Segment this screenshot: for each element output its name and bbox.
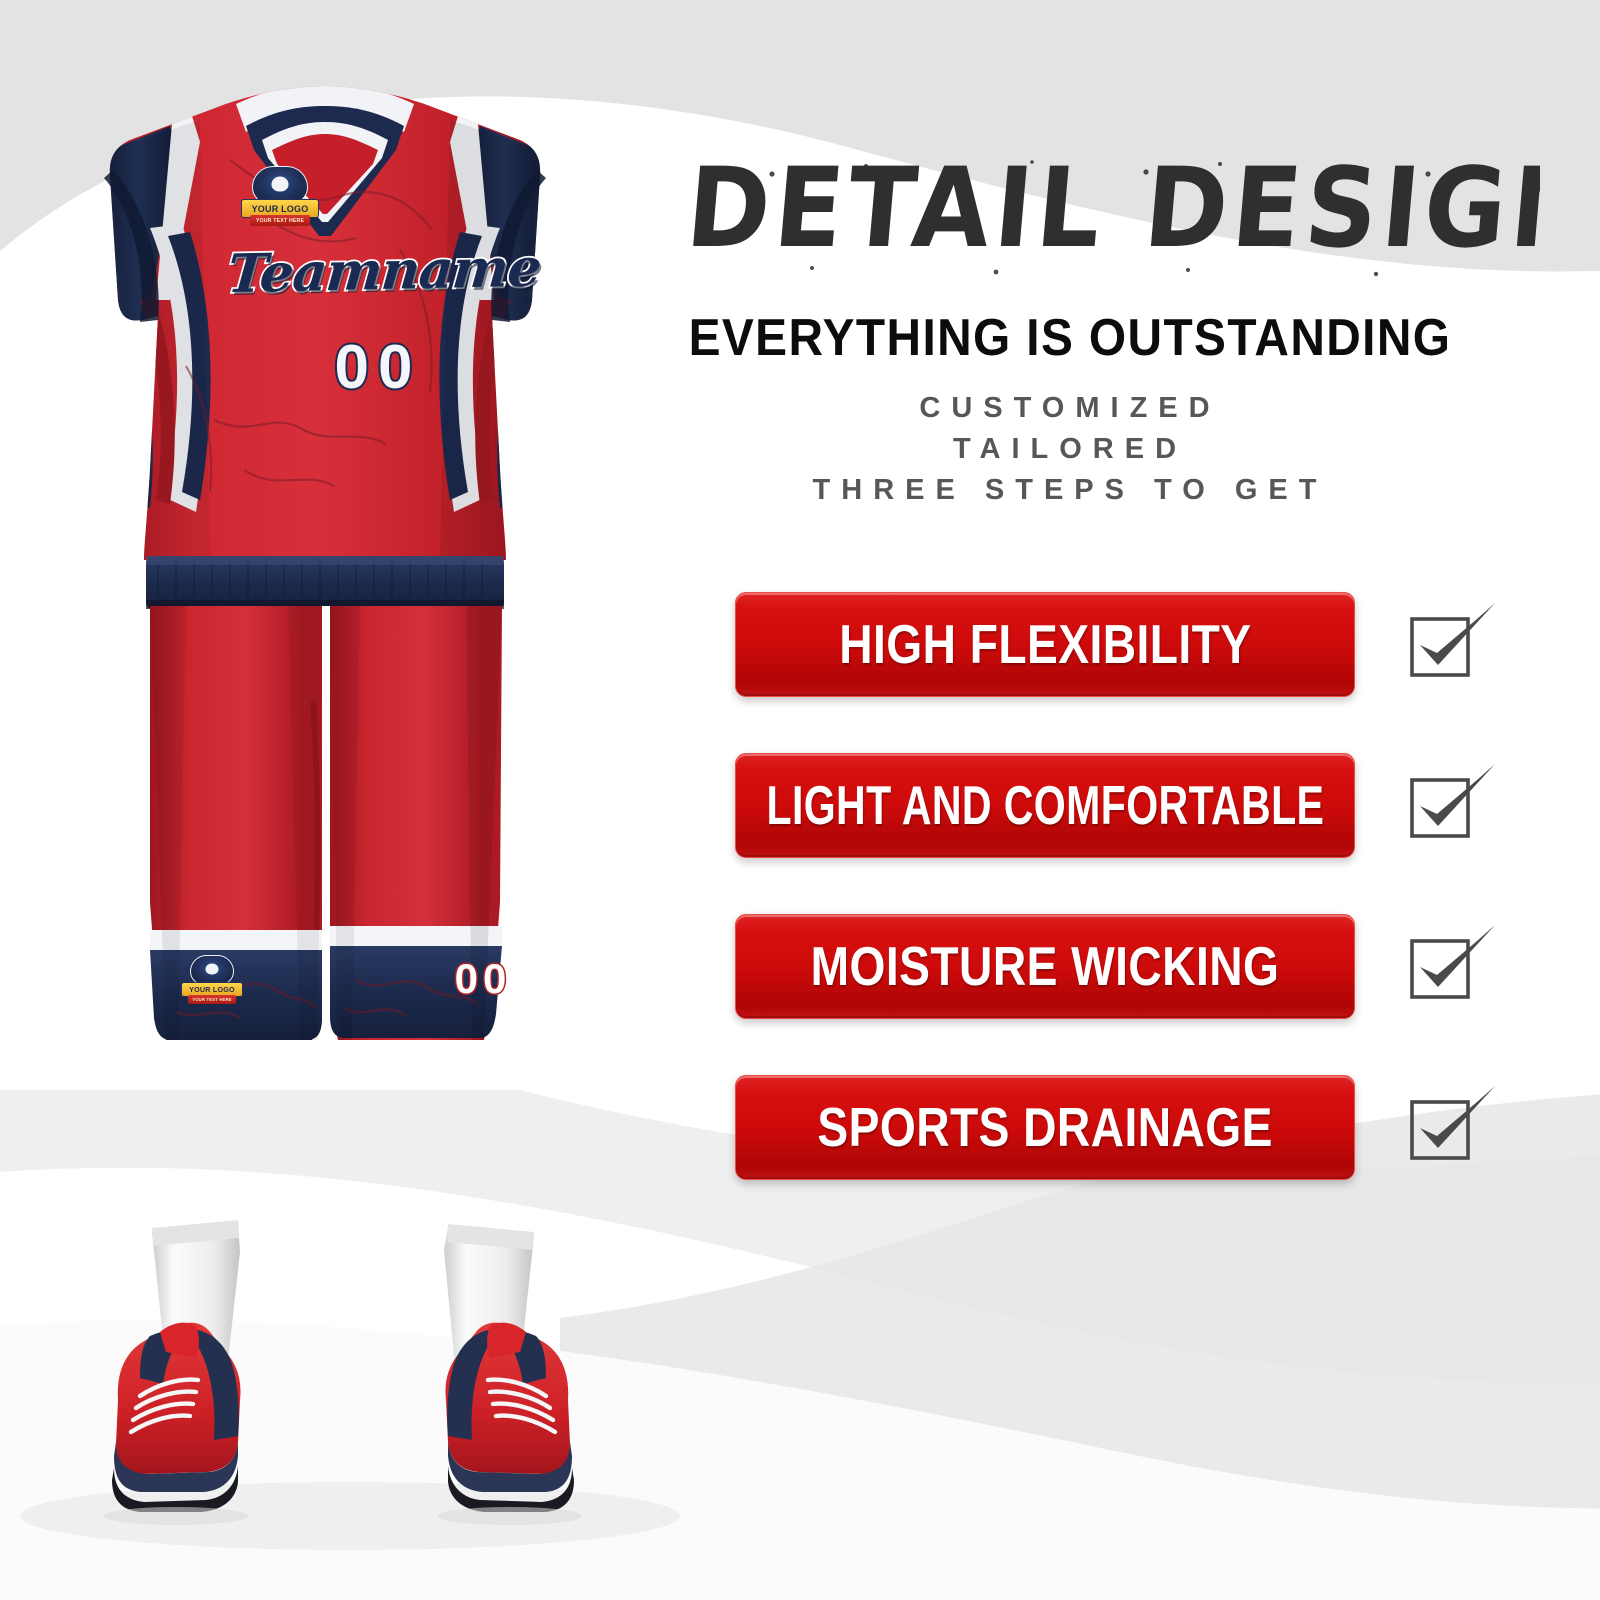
jersey-logo-badge: YOUR LOGO YOUR TEXT HERE — [241, 166, 319, 224]
feature-badge-high-flexibility[interactable]: HIGH FLEXIBILITY — [735, 592, 1355, 697]
feature-row: HIGH FLEXIBILITY — [600, 592, 1600, 697]
page-title: DETAIL DESIGN — [660, 148, 1540, 278]
product-mockup: YOUR LOGO YOUR TEXT HERE Teamname 00 YOU… — [0, 0, 650, 1600]
feature-row: MOISTURE WICKING — [600, 914, 1600, 1019]
logo-primary-text: YOUR LOGO — [252, 204, 309, 214]
jersey-number: 00 — [248, 332, 508, 403]
socks-and-shoes-graphic — [104, 1220, 582, 1525]
feature-label: HIGH FLEXIBILITY — [839, 617, 1251, 672]
feature-list: HIGH FLEXIBILITY LIGHT AND COMFORTABLE — [600, 592, 1600, 1236]
feature-row: SPORTS DRAINAGE — [600, 1075, 1600, 1180]
tagline-list: CUSTOMIZED TAILORED THREE STEPS TO GET — [600, 388, 1540, 512]
feature-badge-moisture-wicking[interactable]: MOISTURE WICKING — [735, 914, 1355, 1019]
feature-label: MOISTURE WICKING — [811, 939, 1280, 994]
shoe-left — [104, 1323, 248, 1525]
tagline-3: THREE STEPS TO GET — [600, 470, 1540, 511]
logo-secondary-text: YOUR TEXT HERE — [256, 218, 304, 224]
tagline-2: TAILORED — [600, 429, 1540, 470]
feature-label: SPORTS DRAINAGE — [817, 1100, 1273, 1155]
feature-badge-light-and-comfortable[interactable]: LIGHT AND COMFORTABLE — [735, 753, 1355, 858]
shorts-number: 00 — [408, 955, 558, 1003]
checkbox-checked-svg — [1403, 927, 1483, 1007]
shorts-logo-badge: YOUR LOGO YOUR TEXT HERE — [181, 955, 243, 1002]
product-detail-poster: YOUR LOGO YOUR TEXT HERE Teamname 00 YOU… — [0, 0, 1600, 1600]
checkbox-checked-icon — [1403, 927, 1483, 1007]
page-subtitle: EVERYTHING IS OUTSTANDING — [638, 308, 1503, 368]
shorts-waistband-graphic — [146, 556, 504, 610]
shorts-logo-crest-icon — [190, 955, 234, 985]
page-title-brush-svg: DETAIL DESIGN — [660, 148, 1540, 278]
checkbox-checked-icon — [1403, 605, 1483, 685]
checkbox-checked-icon — [1403, 1088, 1483, 1168]
checkbox-checked-svg — [1403, 1088, 1483, 1168]
svg-text:DETAIL DESIGN: DETAIL DESIGN — [682, 148, 1540, 272]
jersey-team-name: Teamname — [225, 237, 531, 305]
shorts-logo-primary-text: YOUR LOGO — [189, 985, 235, 994]
logo-subribbon: YOUR TEXT HERE — [250, 215, 310, 226]
copy-column: DETAIL DESIGN EVERYTHING IS OUTSTANDING … — [600, 0, 1600, 1600]
checkbox-checked-icon — [1403, 766, 1483, 846]
feature-row: LIGHT AND COMFORTABLE — [600, 753, 1600, 858]
uniform-illustration-svg — [0, 0, 650, 1600]
shorts-logo-secondary-text: YOUR TEXT HERE — [192, 997, 232, 1002]
shoe-right — [438, 1323, 582, 1525]
feature-badge-sports-drainage[interactable]: SPORTS DRAINAGE — [735, 1075, 1355, 1180]
checkbox-checked-svg — [1403, 766, 1483, 846]
shorts-logo-subribbon: YOUR TEXT HERE — [188, 995, 236, 1004]
checkbox-checked-svg — [1403, 605, 1483, 685]
tagline-1: CUSTOMIZED — [600, 388, 1540, 429]
feature-label: LIGHT AND COMFORTABLE — [766, 778, 1324, 833]
jersey-graphic — [104, 84, 550, 566]
